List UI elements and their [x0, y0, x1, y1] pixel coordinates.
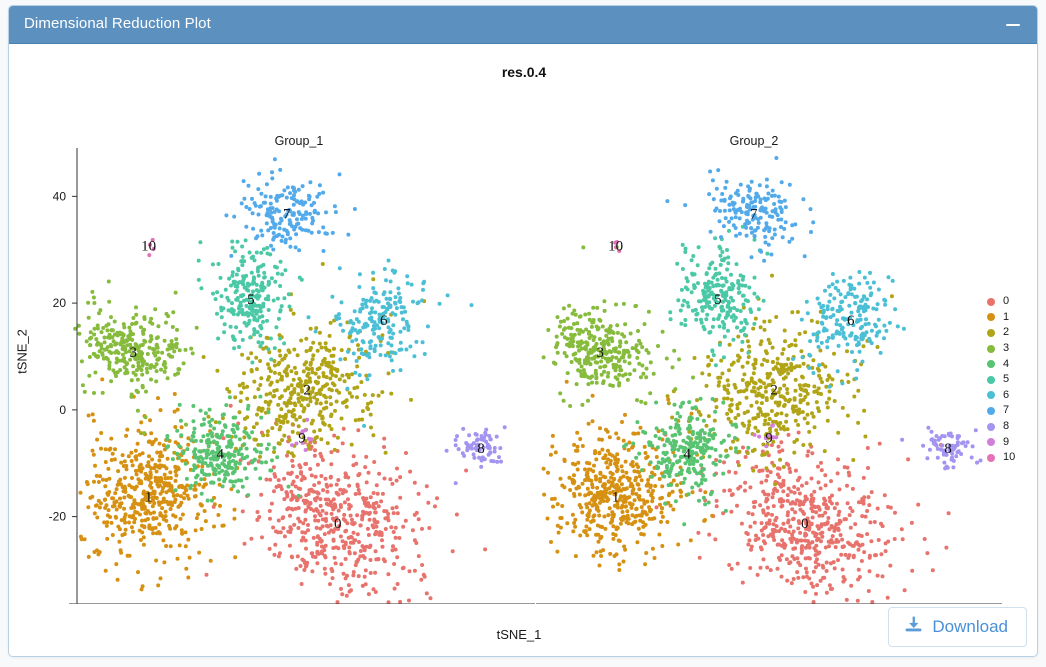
- panel-group-1: 012345678910-2002040: [69, 157, 535, 604]
- cluster-points-7: [224, 157, 357, 258]
- cluster-label-7: 7: [750, 206, 758, 222]
- legend-key-3: [987, 345, 995, 353]
- cluster-points-1: [79, 377, 240, 591]
- card-footer: Download: [9, 604, 1038, 657]
- legend-item-3[interactable]: 3: [987, 341, 1037, 357]
- legend-label: 4: [1003, 359, 1009, 370]
- download-button-label: Download: [932, 617, 1008, 637]
- cluster-label-10: 10: [608, 238, 623, 254]
- legend-key-6: [987, 391, 995, 399]
- cluster-label-1: 1: [612, 489, 620, 505]
- legend-key-1: [987, 313, 995, 321]
- app-root: Dimensional Reduction Plot res.0.4 Group…: [0, 0, 1046, 667]
- cluster-label-3: 3: [130, 345, 138, 361]
- dimensional-reduction-card: Dimensional Reduction Plot res.0.4 Group…: [8, 5, 1038, 657]
- cluster-label-2: 2: [770, 383, 778, 399]
- y-tick-label: 20: [53, 296, 67, 310]
- download-icon: [903, 614, 924, 640]
- legend-label: 9: [1003, 437, 1009, 448]
- legend-item-4[interactable]: 4: [987, 356, 1037, 372]
- cluster-label-10: 10: [141, 238, 156, 254]
- legend-key-8: [987, 423, 995, 431]
- cluster-label-4: 4: [216, 447, 224, 463]
- legend-label: 0: [1003, 296, 1009, 307]
- cluster-label-8: 8: [944, 441, 952, 457]
- legend-label: 5: [1003, 374, 1009, 385]
- cluster-points-8: [900, 426, 982, 471]
- cluster-label-9: 9: [765, 431, 773, 447]
- cluster-legend: 012345678910: [987, 294, 1037, 466]
- cluster-points-7: [665, 156, 815, 263]
- card-header: Dimensional Reduction Plot: [9, 6, 1037, 44]
- cluster-points-6: [791, 270, 906, 389]
- y-axis: -2002040: [49, 148, 77, 604]
- legend-label: 3: [1003, 343, 1009, 354]
- legend-label: 8: [1003, 421, 1009, 432]
- page-title: Dimensional Reduction Plot: [24, 15, 211, 32]
- legend-item-7[interactable]: 7: [987, 403, 1037, 419]
- cluster-label-5: 5: [714, 292, 722, 308]
- cluster-label-1: 1: [145, 489, 153, 505]
- legend-key-5: [987, 376, 995, 384]
- legend-item-8[interactable]: 8: [987, 419, 1037, 435]
- legend-item-5[interactable]: 5: [987, 372, 1037, 388]
- cluster-label-7: 7: [283, 206, 291, 222]
- y-tick-label: 0: [59, 403, 66, 417]
- cluster-label-0: 0: [334, 516, 342, 532]
- legend-key-2: [987, 329, 995, 337]
- cluster-label-2: 2: [303, 383, 311, 399]
- legend-item-1[interactable]: 1: [987, 310, 1037, 326]
- cluster-label-9: 9: [298, 431, 306, 447]
- cluster-points-1: [542, 380, 715, 572]
- cluster-points-3: [542, 245, 695, 408]
- cluster-label-8: 8: [477, 441, 485, 457]
- y-tick-label: -20: [49, 510, 67, 524]
- minimize-icon[interactable]: [1003, 14, 1023, 34]
- legend-item-10[interactable]: 10: [987, 450, 1037, 466]
- scatter-canvas: 012345678910-2002040012345678910-2002040…: [9, 44, 1038, 604]
- legend-key-7: [987, 407, 995, 415]
- cluster-label-0: 0: [801, 516, 809, 532]
- legend-label: 7: [1003, 405, 1009, 416]
- cluster-label-3: 3: [597, 345, 605, 361]
- dimensional-reduction-plot: res.0.4 Group_1 Group_2 012345678910-200…: [9, 44, 1038, 604]
- legend-item-9[interactable]: 9: [987, 434, 1037, 450]
- legend-key-0: [987, 298, 995, 306]
- cluster-label-6: 6: [847, 313, 855, 329]
- legend-key-10: [987, 454, 995, 462]
- legend-label: 6: [1003, 390, 1009, 401]
- legend-key-4: [987, 360, 995, 368]
- legend-label: 1: [1003, 312, 1009, 323]
- card-body: res.0.4 Group_1 Group_2 012345678910-200…: [9, 44, 1037, 657]
- panel-group-2: 012345678910-2002040: [536, 156, 1002, 604]
- cluster-label-6: 6: [380, 313, 388, 329]
- legend-item-6[interactable]: 6: [987, 388, 1037, 404]
- legend-label: 2: [1003, 327, 1009, 338]
- y-axis-title: tSNE_2: [15, 292, 30, 412]
- legend-key-9: [987, 438, 995, 446]
- legend-label: 10: [1003, 452, 1015, 463]
- cluster-label-4: 4: [683, 447, 691, 463]
- legend-item-2[interactable]: 2: [987, 325, 1037, 341]
- y-tick-label: 40: [53, 189, 67, 203]
- cluster-label-5: 5: [247, 292, 255, 308]
- download-button[interactable]: Download: [888, 607, 1027, 647]
- cluster-points-8: [445, 425, 507, 485]
- legend-item-0[interactable]: 0: [987, 294, 1037, 310]
